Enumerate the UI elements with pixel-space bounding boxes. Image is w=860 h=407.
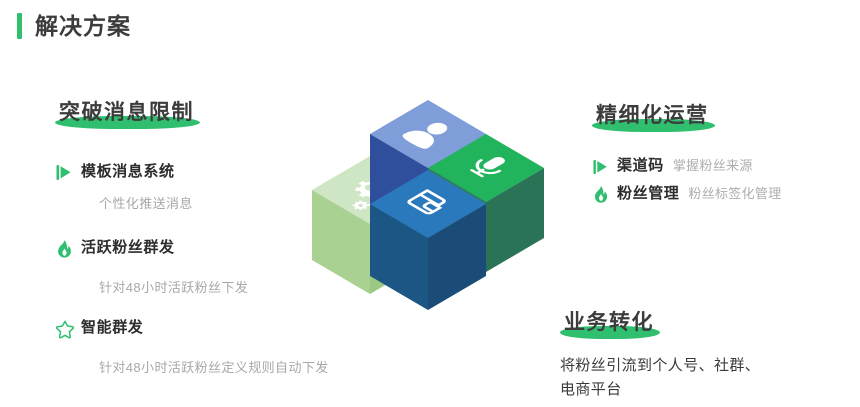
- solution-slide: 解决方案 突破消息限制 模板消息系统 个性化推送消息: [0, 0, 860, 407]
- left-section-heading-text: 突破消息限制: [59, 101, 194, 124]
- flame-icon: [592, 185, 617, 204]
- right-bottom-section-heading: 业务转化: [560, 310, 660, 339]
- feature-item[interactable]: 渠道码 掌握粉丝来源: [592, 156, 857, 176]
- right-bottom-section-heading-text: 业务转化: [564, 311, 654, 334]
- flame-icon: [55, 239, 81, 259]
- page-title: 解决方案: [35, 13, 131, 39]
- feature-title: 模板消息系统: [81, 162, 175, 182]
- feature-title: 智能群发: [81, 318, 143, 338]
- title-accent-bar: [17, 13, 22, 39]
- right-top-section-heading-text: 精细化运营: [596, 104, 709, 127]
- feature-title: 渠道码: [617, 156, 664, 176]
- right-top-section: 精细化运营 渠道码 掌握粉丝来源: [592, 103, 857, 212]
- star-outline-icon: [55, 319, 81, 339]
- right-bottom-section: 业务转化 将粉丝引流到个人号、社群、 电商平台: [560, 310, 850, 402]
- isometric-cube-cluster: [312, 98, 548, 326]
- feature-subtitle: 针对48小时活跃粉丝定义规则自动下发: [99, 359, 395, 377]
- feature-item[interactable]: 粉丝管理 粉丝标签化管理: [592, 184, 857, 204]
- body-line-2: 电商平台: [560, 378, 850, 402]
- feature-title: 活跃粉丝群发: [81, 238, 175, 258]
- flag-icon: [55, 163, 81, 182]
- right-top-section-heading: 精细化运营: [592, 103, 715, 132]
- right-feature-list: 渠道码 掌握粉丝来源 粉丝管理 粉丝标签化管理: [592, 156, 857, 204]
- body-line-1: 将粉丝引流到个人号、社群、: [560, 354, 850, 378]
- feature-subtitle: 掌握粉丝来源: [673, 157, 753, 175]
- feature-subtitle: 粉丝标签化管理: [688, 185, 781, 203]
- flag-icon: [592, 158, 617, 176]
- page-title-group: 解决方案: [17, 12, 131, 40]
- business-conversion-body: 将粉丝引流到个人号、社群、 电商平台: [560, 354, 850, 402]
- feature-title: 粉丝管理: [617, 184, 679, 204]
- left-section-heading: 突破消息限制: [55, 100, 200, 129]
